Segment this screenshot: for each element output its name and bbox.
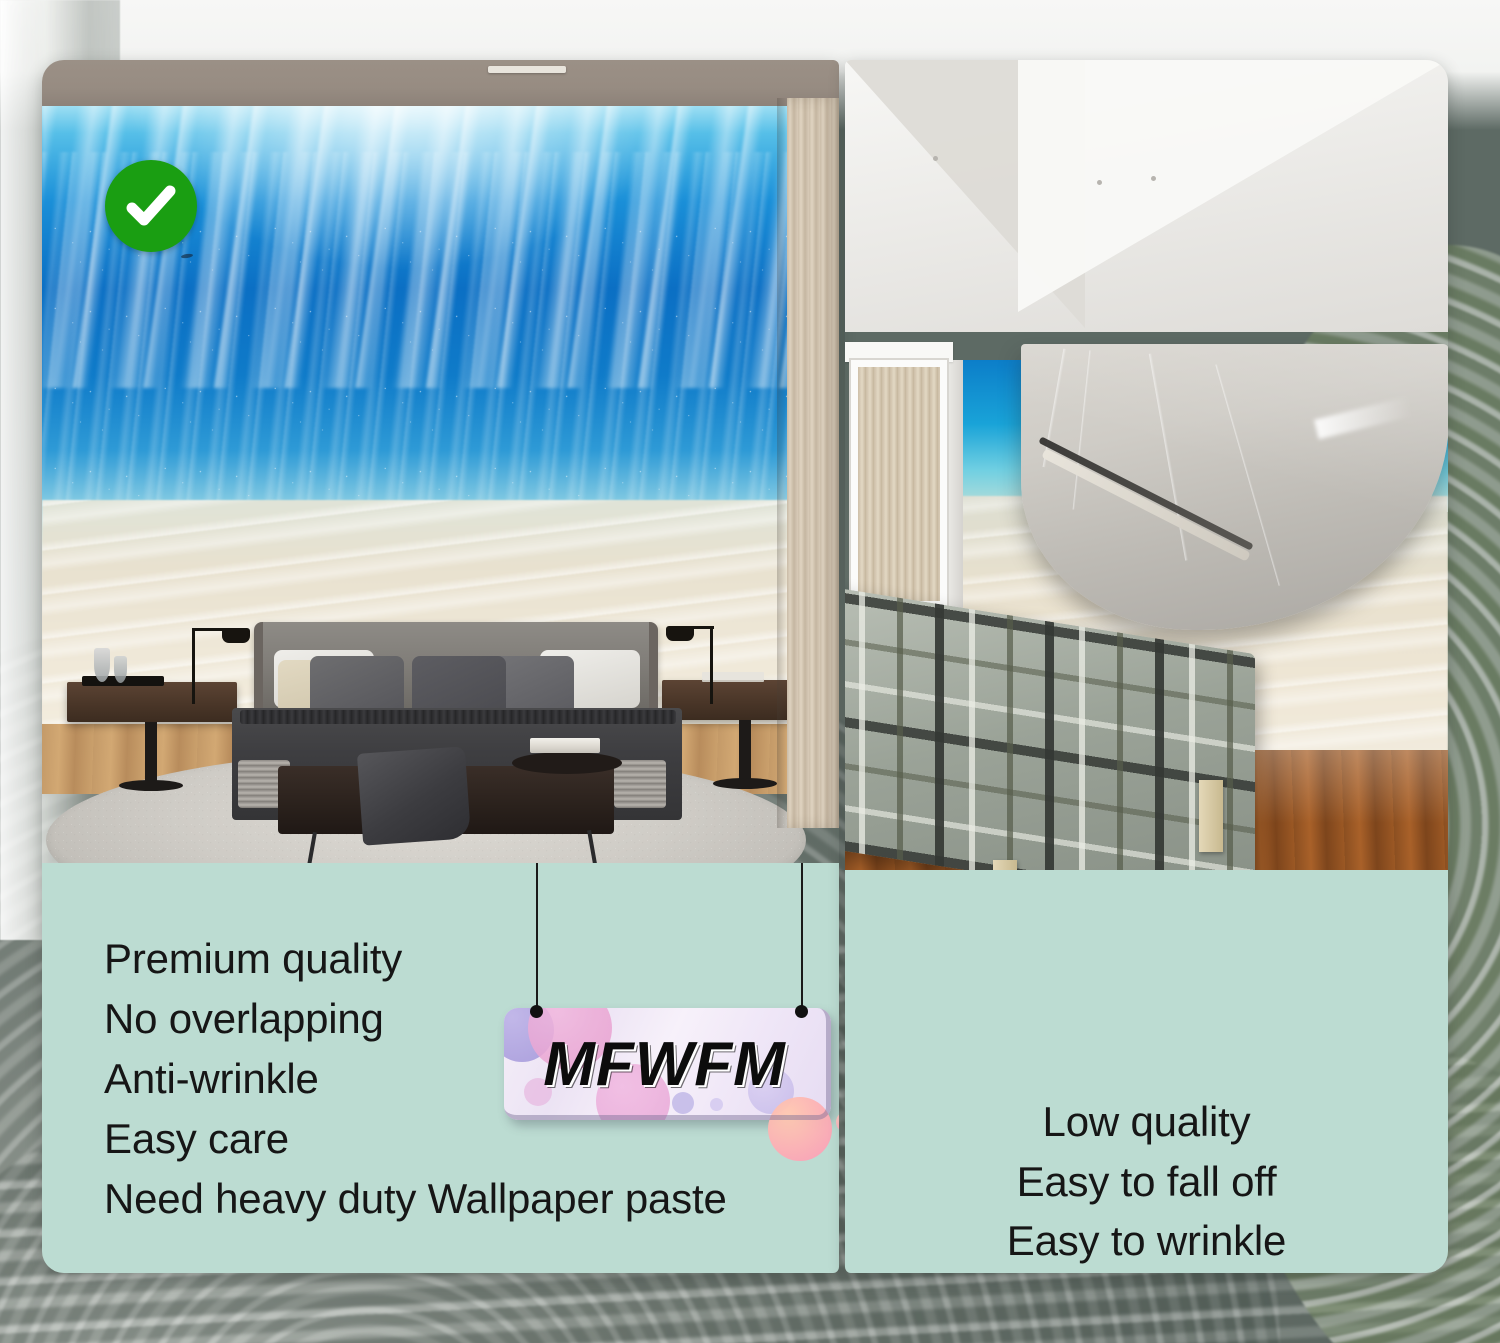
reading-lamp-right-pole (710, 626, 713, 704)
book-stack (530, 738, 600, 753)
drawback-list: Low quality Easy to fall off Easy to wri… (845, 1092, 1448, 1273)
ceiling-spot (1097, 180, 1102, 185)
sign-hanger-dot (795, 1005, 808, 1018)
sign-hanger-dot (530, 1005, 543, 1018)
window-curtain (787, 98, 839, 828)
window-blind (858, 367, 940, 601)
bad-caption-area: Others Low quality Easy to fall off Easy… (845, 870, 1448, 1273)
ceiling-fold (1018, 60, 1448, 312)
feature-item: Need heavy duty Wallpaper paste (104, 1169, 727, 1229)
mural-bubbles (42, 214, 796, 537)
nightstand-right-stem (739, 720, 751, 782)
reading-lamp-left-pole (192, 628, 195, 704)
good-caption-area: Premium quality No overlapping Anti-wrin… (42, 863, 839, 1273)
reading-lamp-left-head (222, 628, 250, 643)
sign-wire (801, 863, 803, 1011)
decanter-icon (114, 656, 127, 683)
good-example-panel: Premium quality No overlapping Anti-wrin… (42, 60, 839, 1273)
window-header (845, 342, 953, 362)
nightstand-left (67, 682, 237, 722)
bed-side-basket (614, 760, 666, 808)
bad-example-panel: Others Low quality Easy to fall off Easy… (845, 60, 1448, 1273)
ceiling-spot (933, 156, 938, 161)
draped-throw (357, 746, 471, 845)
curtain-shadow (777, 98, 787, 828)
check-circle-icon (105, 160, 197, 252)
window-frame (851, 360, 947, 608)
brand-sign-label: MFWFM (504, 1008, 831, 1120)
nightstand-left-stem (145, 722, 157, 784)
drawback-item: Easy to fall off (845, 1152, 1448, 1212)
drawback-item: Easy to wrinkle (845, 1211, 1448, 1271)
bad-room-photo (845, 60, 1448, 870)
drawback-item: Easy to break (845, 1271, 1448, 1273)
reading-lamp-right-head (666, 626, 694, 641)
feature-item: Premium quality (104, 929, 727, 989)
ceiling-spot (1151, 176, 1156, 181)
brand-sign-mfwfm: MFWFM (504, 1008, 831, 1120)
round-tray (512, 752, 622, 774)
knit-throw-band (240, 710, 676, 724)
ceiling-strip (42, 60, 839, 106)
decor-bubble (836, 1111, 839, 1133)
drawback-item: Low quality (845, 1092, 1448, 1152)
nightstand-right-base (713, 778, 777, 789)
bed-leg (1199, 780, 1223, 852)
nightstand-left-base (119, 780, 183, 791)
decanter-icon (94, 648, 110, 682)
bed-leg (993, 860, 1017, 870)
